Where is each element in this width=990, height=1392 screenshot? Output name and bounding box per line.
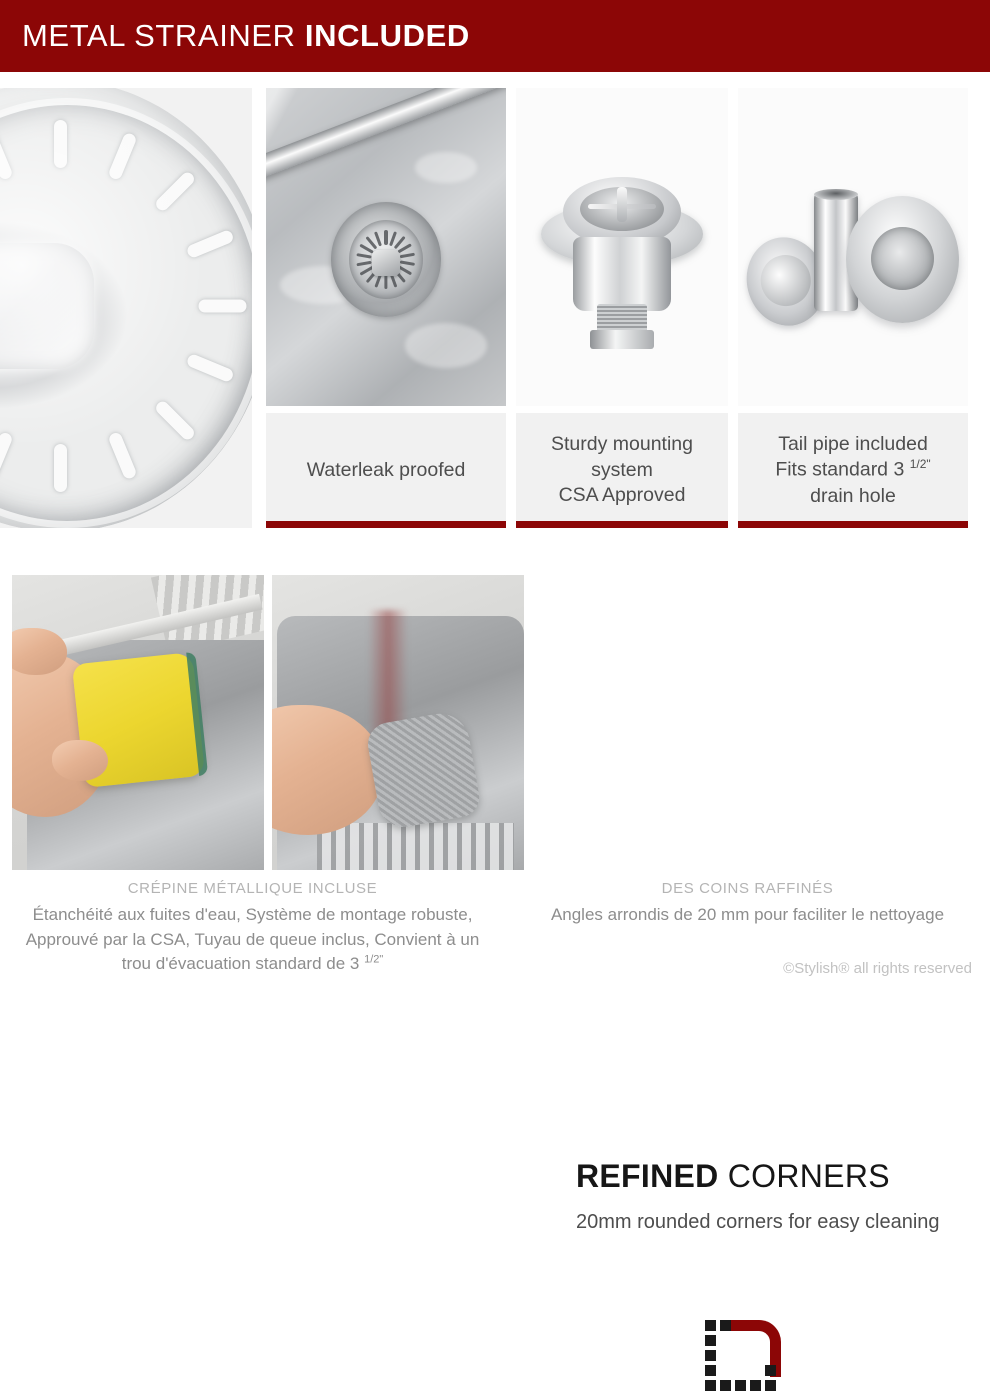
assembly-body — [573, 237, 671, 310]
corner-dot — [750, 1380, 761, 1391]
refined-title: REFINED CORNERS — [576, 1158, 976, 1195]
drain-slot — [357, 261, 372, 267]
caption-line-1: Sturdy mounting — [551, 432, 693, 458]
drain-slot — [384, 230, 387, 245]
strainer-basket-graphic — [0, 88, 252, 528]
page-title-bold: INCLUDED — [305, 18, 470, 53]
drain-slot — [357, 253, 372, 259]
corner-dot — [720, 1380, 731, 1391]
caption-text: Sturdy mounting system CSA Approved — [541, 432, 703, 509]
strainer-slot — [107, 132, 137, 181]
assembly-crosspin-v — [617, 187, 628, 222]
strainer-hub — [0, 243, 94, 370]
assembly-thread — [597, 304, 648, 333]
caption-waterleak: Waterleak proofed — [266, 413, 506, 528]
strainer-parts-graphic — [738, 88, 968, 406]
photo-wet-sink-drain — [266, 88, 506, 406]
caption-line-2-text: Fits standard 3 — [775, 459, 909, 481]
caption-line-3: CSA Approved — [551, 483, 693, 509]
wet-sink-graphic — [266, 88, 506, 406]
strainer-slot — [198, 300, 246, 313]
water-smear — [405, 323, 487, 368]
footer-body: Angles arrondis de 20 mm pour faciliter … — [505, 903, 990, 928]
photo-sponge-cleaning — [12, 575, 264, 870]
corner-dot — [705, 1365, 716, 1376]
strainer-slot — [54, 444, 67, 492]
strainer-rim — [0, 98, 252, 528]
caption-line-2: Fits standard 3 1/2" — [775, 457, 930, 483]
caption-underline — [266, 521, 506, 528]
feature-card-tailpipe: Tail pipe included Fits standard 3 1/2" … — [738, 88, 968, 406]
assembly-nut — [590, 330, 654, 349]
copyright-text: ©Stylish® all rights reserved — [783, 960, 972, 977]
corner-dot — [735, 1380, 746, 1391]
strainer-slot — [54, 120, 67, 168]
top-section: ST-05 Waterleak proofed — [0, 88, 990, 528]
refined-title-bold: REFINED — [576, 1158, 719, 1194]
strainer-slot — [185, 353, 234, 383]
water-smear — [415, 152, 477, 184]
drain-slot — [384, 274, 387, 289]
caption-underline — [738, 521, 968, 528]
caption-line-3: drain hole — [775, 484, 930, 510]
photo-strainer-parts — [738, 88, 968, 406]
drain-slot — [400, 261, 415, 267]
page-title-light: METAL STRAINER — [22, 18, 305, 53]
footer-fraction: 1/2" — [364, 954, 383, 966]
footer-french-corners: DES COINS RAFFINÉS Angles arrondis de 20… — [505, 880, 990, 928]
countertop-graphic — [272, 575, 524, 870]
footer-line-3-text: trou d'évacuation standard de 3 — [122, 954, 364, 973]
footer-line-3: trou d'évacuation standard de 3 1/2" — [0, 952, 505, 977]
part-flange — [846, 196, 959, 323]
strainer-assembly-graphic — [516, 88, 728, 406]
refined-title-light: CORNERS — [719, 1158, 890, 1194]
header-banner: METAL STRAINER INCLUDED — [0, 0, 990, 72]
corner-dot — [705, 1380, 716, 1391]
strainer-slot — [107, 431, 137, 480]
countertop-graphic — [12, 575, 264, 870]
caption-tailpipe: Tail pipe included Fits standard 3 1/2" … — [738, 413, 968, 528]
caption-mounting: Sturdy mounting system CSA Approved — [516, 413, 728, 528]
strainer-slot — [153, 170, 196, 213]
sink-rack — [317, 823, 514, 870]
footer-french-strainer: CRÉPINE MÉTALLIQUE INCLUSE Étanchéité au… — [0, 880, 505, 977]
footer-title: CRÉPINE MÉTALLIQUE INCLUSE — [0, 880, 505, 897]
infographic-page: METAL STRAINER INCLUDED ST-05 — [0, 0, 990, 990]
feature-card-mounting: Sturdy mounting system CSA Approved — [516, 88, 728, 406]
caption-underline — [516, 521, 728, 528]
footer-title: DES COINS RAFFINÉS — [505, 880, 990, 897]
corner-dot — [705, 1320, 716, 1331]
photo-cloth-cleaning — [272, 575, 524, 870]
photo-strainer-assembly — [516, 88, 728, 406]
caption-line-2: system — [551, 458, 693, 484]
strainer-slot — [0, 431, 13, 480]
corner-dot — [705, 1350, 716, 1361]
corner-dot — [765, 1380, 776, 1391]
refined-subtitle: 20mm rounded corners for easy cleaning — [576, 1209, 976, 1237]
hero-strainer-photo — [0, 88, 252, 528]
caption-fraction: 1/2" — [910, 457, 931, 471]
footer-line-2: Approuvé par la CSA, Tuyau de queue incl… — [0, 928, 505, 953]
drain-slot — [400, 253, 415, 259]
caption-text: Waterleak proofed — [297, 458, 476, 484]
bottom-section: REFINED CORNERS 20mm rounded corners for… — [0, 575, 990, 875]
strainer-slot — [185, 229, 234, 259]
footer-body: Étanchéité aux fuites d'eau, Système de … — [0, 903, 505, 977]
footer-line-1: Étanchéité aux fuites d'eau, Système de … — [0, 903, 505, 928]
page-title: METAL STRAINER INCLUDED — [22, 18, 470, 54]
drain-knob — [372, 250, 401, 275]
corner-dot — [705, 1335, 716, 1346]
corner-dot — [720, 1320, 731, 1331]
feature-card-waterleak: Waterleak proofed — [266, 88, 506, 406]
strainer-slot — [0, 132, 13, 181]
caption-text: Tail pipe included Fits standard 3 1/2" … — [765, 432, 940, 510]
refined-corners-block: REFINED CORNERS 20mm rounded corners for… — [576, 1158, 976, 1237]
finger — [52, 740, 107, 781]
caption-line-1: Tail pipe included — [775, 432, 930, 458]
corner-dot — [765, 1365, 776, 1376]
grey-cloth — [364, 709, 482, 831]
rounded-corner-icon — [705, 1320, 781, 1392]
strainer-slot — [153, 399, 196, 442]
